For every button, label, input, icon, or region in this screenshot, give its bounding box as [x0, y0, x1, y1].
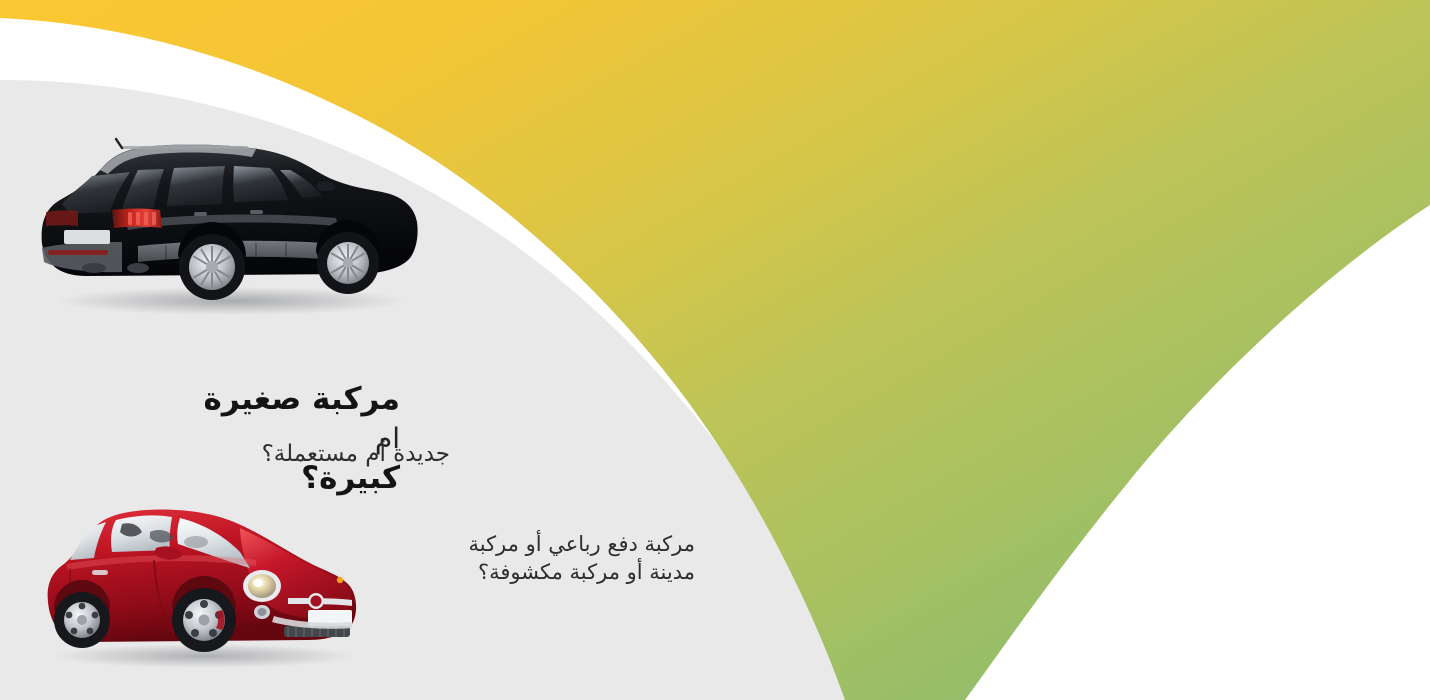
- subtitle-body-type: مركبة دفع رباعي أو مركبة مدينة أو مركبة …: [400, 530, 695, 587]
- red-compact-car-illustration: [26, 498, 376, 670]
- headline-bold-1: مركبة صغيرة: [204, 381, 400, 417]
- banner-root: مركبة صغيرة ام كبيرة؟ جديدة أم مستعملة؟ …: [0, 0, 1430, 700]
- compact-rear-wheel: [54, 592, 110, 648]
- red-compact-car-photo: [26, 498, 376, 670]
- page-title: مركبة صغيرة ام كبيرة؟: [60, 340, 400, 499]
- compact-front-wheel: [172, 588, 236, 652]
- black-suv-photo: [26, 126, 426, 316]
- suv-rear-wheel: [179, 234, 245, 300]
- subtitle-new-or-used: جديدة أم مستعملة؟: [200, 440, 450, 469]
- black-suv-illustration: [26, 126, 426, 316]
- suv-front-wheel: [317, 232, 379, 294]
